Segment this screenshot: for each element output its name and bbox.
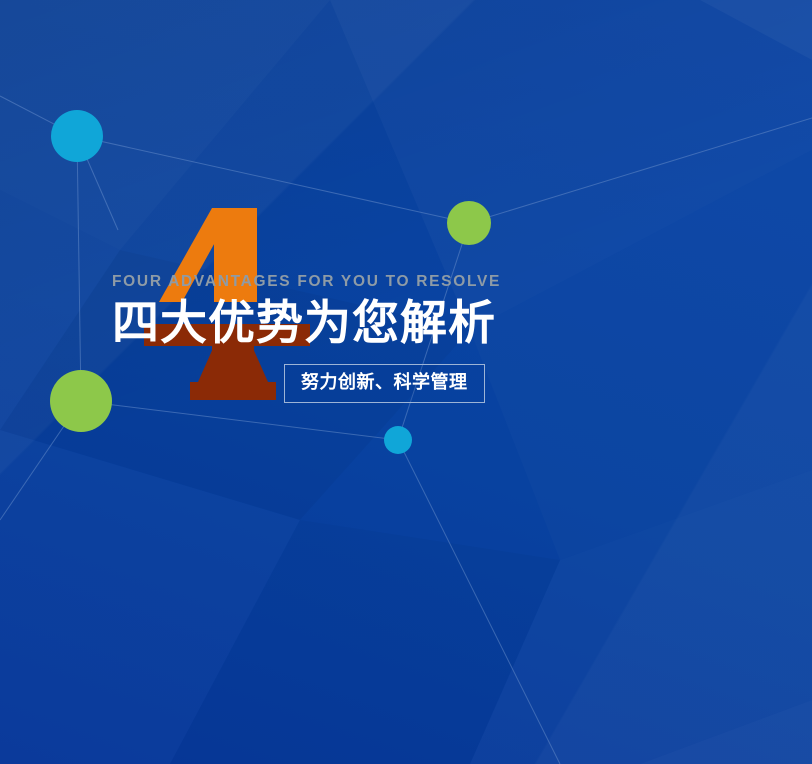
banner-eyebrow: FOUR ADVANTAGES FOR YOU TO RESOLVE <box>112 196 532 290</box>
facet-6 <box>170 520 560 764</box>
node-cyan-top-left <box>51 110 103 162</box>
edge-greenbl-to-cyanbottom <box>81 401 398 440</box>
banner-headline: 四大优势为您解析 <box>112 299 532 349</box>
facet-10 <box>0 190 120 430</box>
edge-topleft-to-edge <box>0 96 77 136</box>
banner-subtitle-row: 努力创新、科学管理 <box>112 364 532 403</box>
edge-greenbl-to-edge <box>0 401 81 520</box>
banner-subtitle-badge: 努力创新、科学管理 <box>284 364 485 403</box>
facet-8 <box>640 700 812 764</box>
facet-7 <box>470 470 812 764</box>
banner-content: FOUR ADVANTAGES FOR YOU TO RESOLVE 四大优势为… <box>112 196 532 403</box>
edge-topleft-to-greenbl <box>77 136 81 401</box>
edge-cyanbottom-to-edge <box>398 440 560 764</box>
promo-banner: FOUR ADVANTAGES FOR YOU TO RESOLVE 四大优势为… <box>0 0 812 764</box>
node-cyan-bottom <box>384 426 412 454</box>
facet-9 <box>700 0 812 60</box>
node-green-bottom-left <box>50 370 112 432</box>
facet-5 <box>0 430 300 764</box>
